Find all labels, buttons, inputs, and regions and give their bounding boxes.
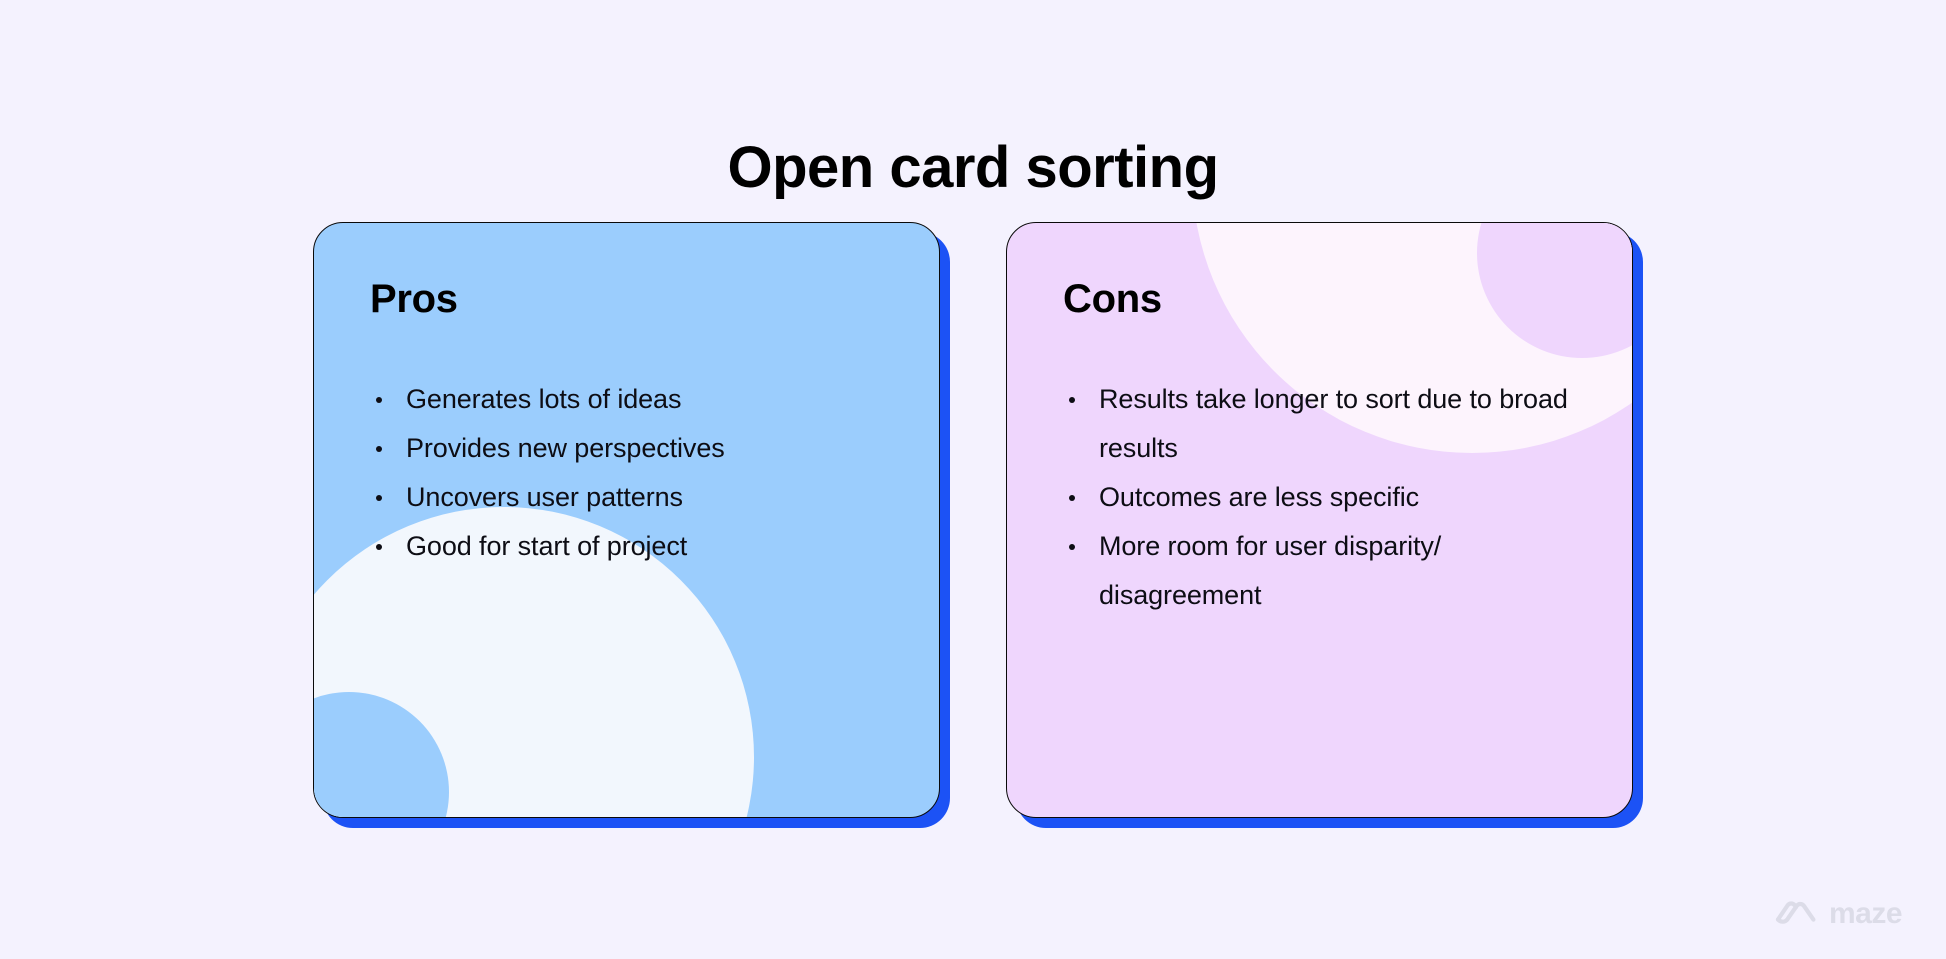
bullet-dot-icon — [376, 397, 382, 403]
cons-card-heading: Cons — [1063, 275, 1576, 323]
list-item: Uncovers user patterns — [370, 473, 883, 522]
list-item-label: Outcomes are less specific — [1099, 482, 1419, 512]
decorative-circle-small — [313, 692, 449, 818]
list-item-label: Results take longer to sort due to broad… — [1099, 384, 1568, 463]
bullet-dot-icon — [1069, 397, 1075, 403]
cons-card-wrapper: Cons Results take longer to sort due to … — [1006, 222, 1633, 818]
list-item: Provides new perspectives — [370, 424, 883, 473]
maze-arches-icon — [1774, 898, 1818, 929]
pros-card-heading: Pros — [370, 275, 883, 323]
list-item-label: Uncovers user patterns — [406, 482, 683, 512]
list-item: Good for start of project — [370, 522, 883, 571]
list-item-label: More room for user disparity/ disagreeme… — [1099, 531, 1441, 610]
maze-wordmark: maze — [1829, 899, 1902, 929]
cards-row: Pros Generates lots of ideas Provides ne… — [313, 222, 1633, 822]
pros-bullet-list: Generates lots of ideas Provides new per… — [370, 375, 883, 571]
list-item: Results take longer to sort due to broad… — [1063, 375, 1576, 473]
bullet-dot-icon — [1069, 544, 1075, 550]
maze-logo: maze — [1774, 898, 1902, 929]
slide-canvas: Open card sorting Pros Generates lots of… — [0, 0, 1946, 959]
bullet-dot-icon — [376, 544, 382, 550]
pros-card-wrapper: Pros Generates lots of ideas Provides ne… — [313, 222, 940, 818]
cons-bullet-list: Results take longer to sort due to broad… — [1063, 375, 1576, 620]
bullet-dot-icon — [376, 446, 382, 452]
cons-card-content: Cons Results take longer to sort due to … — [1007, 223, 1632, 620]
bullet-dot-icon — [1069, 495, 1075, 501]
cons-card: Cons Results take longer to sort due to … — [1006, 222, 1633, 818]
list-item-label: Generates lots of ideas — [406, 384, 681, 414]
pros-card-content: Pros Generates lots of ideas Provides ne… — [314, 223, 939, 571]
page-title: Open card sorting — [0, 133, 1946, 203]
list-item: More room for user disparity/ disagreeme… — [1063, 522, 1576, 620]
list-item-label: Good for start of project — [406, 531, 687, 561]
pros-card: Pros Generates lots of ideas Provides ne… — [313, 222, 940, 818]
bullet-dot-icon — [376, 495, 382, 501]
list-item: Outcomes are less specific — [1063, 473, 1576, 522]
list-item-label: Provides new perspectives — [406, 433, 725, 463]
list-item: Generates lots of ideas — [370, 375, 883, 424]
